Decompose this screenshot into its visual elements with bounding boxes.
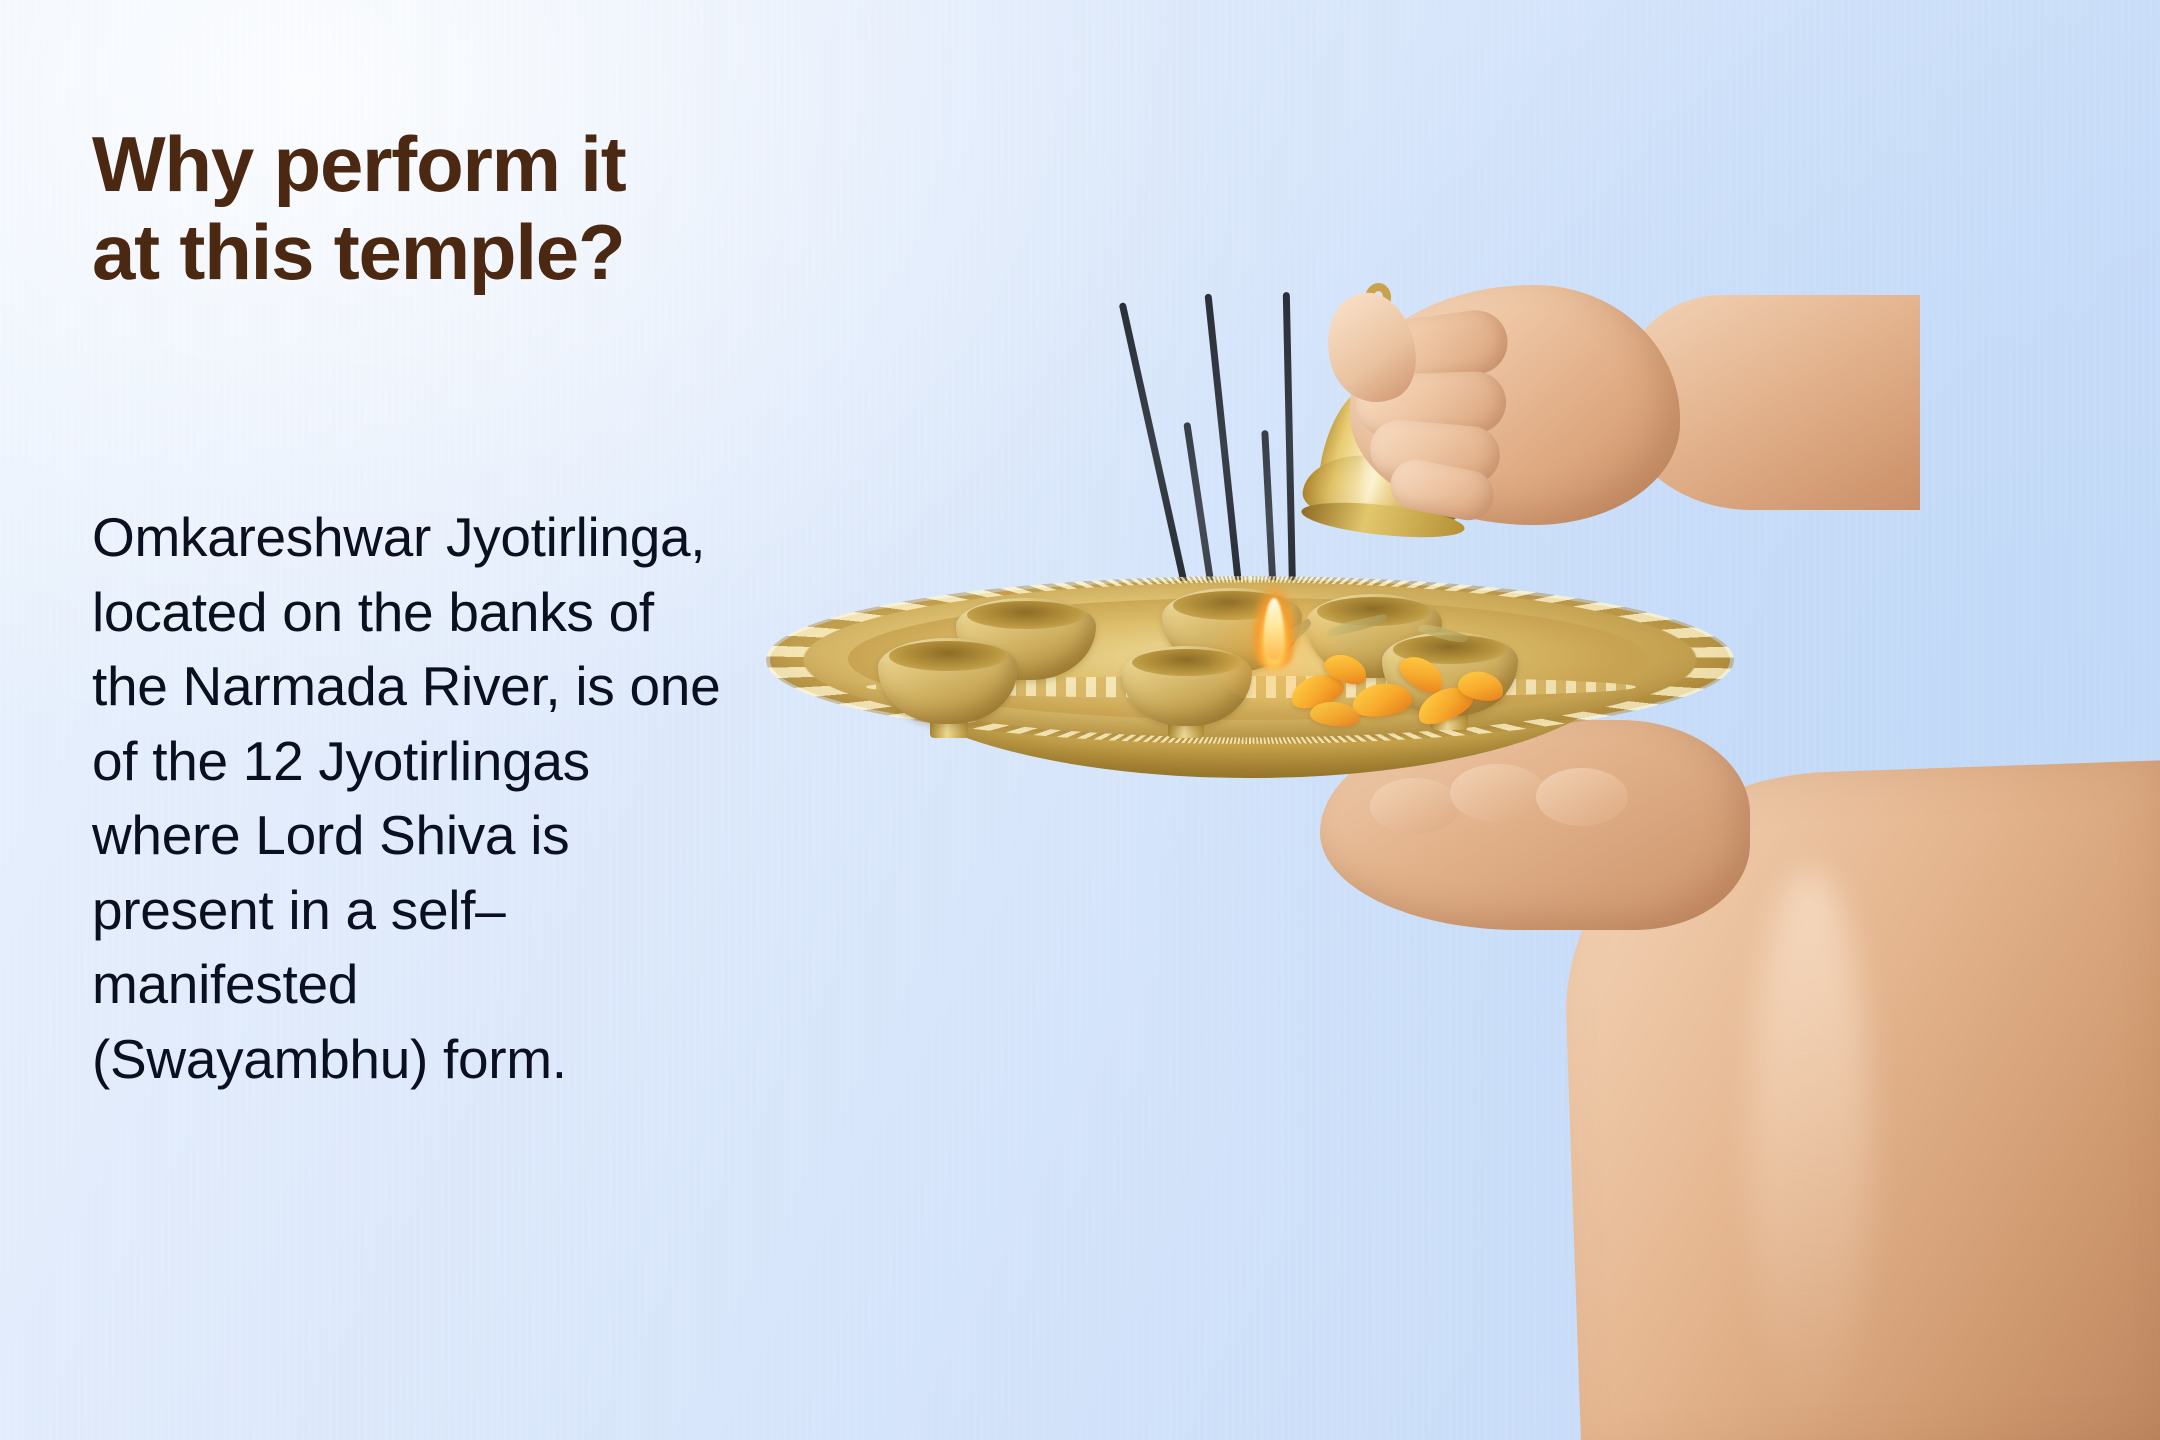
slide-canvas: Why perform it at this temple? Omkareshw… [0, 0, 2160, 1440]
body-line-3: the Narmada River, is one [92, 649, 782, 724]
page-title: Why perform it at this temple? [92, 120, 792, 296]
hand-holding-bell [1320, 265, 1740, 555]
headline-line-2: at this temple? [92, 208, 792, 296]
body-line-6: present in a self– [92, 873, 782, 948]
body-line-8: (Swayambhu) form. [92, 1022, 782, 1097]
knuckle [1370, 778, 1460, 834]
body-line-2: located on the banks of [92, 575, 782, 650]
puja-photograph [760, 0, 2160, 1440]
body-line-4: of the 12 Jyotirlingas [92, 724, 782, 799]
body-line-7: manifested [92, 947, 782, 1022]
text-column: Why perform it at this temple? Omkareshw… [92, 0, 812, 1440]
body-paragraph: Omkareshwar Jyotirlinga, located on the … [92, 500, 782, 1096]
brass-puja-thali [770, 580, 1730, 780]
marigold-petals [1290, 646, 1520, 742]
body-line-5: where Lord Shiva is [92, 798, 782, 873]
body-line-1: Omkareshwar Jyotirlinga, [92, 500, 782, 575]
petal [1350, 680, 1414, 720]
headline-line-1: Why perform it [92, 120, 792, 208]
supporting-forearm [1320, 690, 2160, 1440]
forearm-highlight [1750, 870, 1870, 1430]
